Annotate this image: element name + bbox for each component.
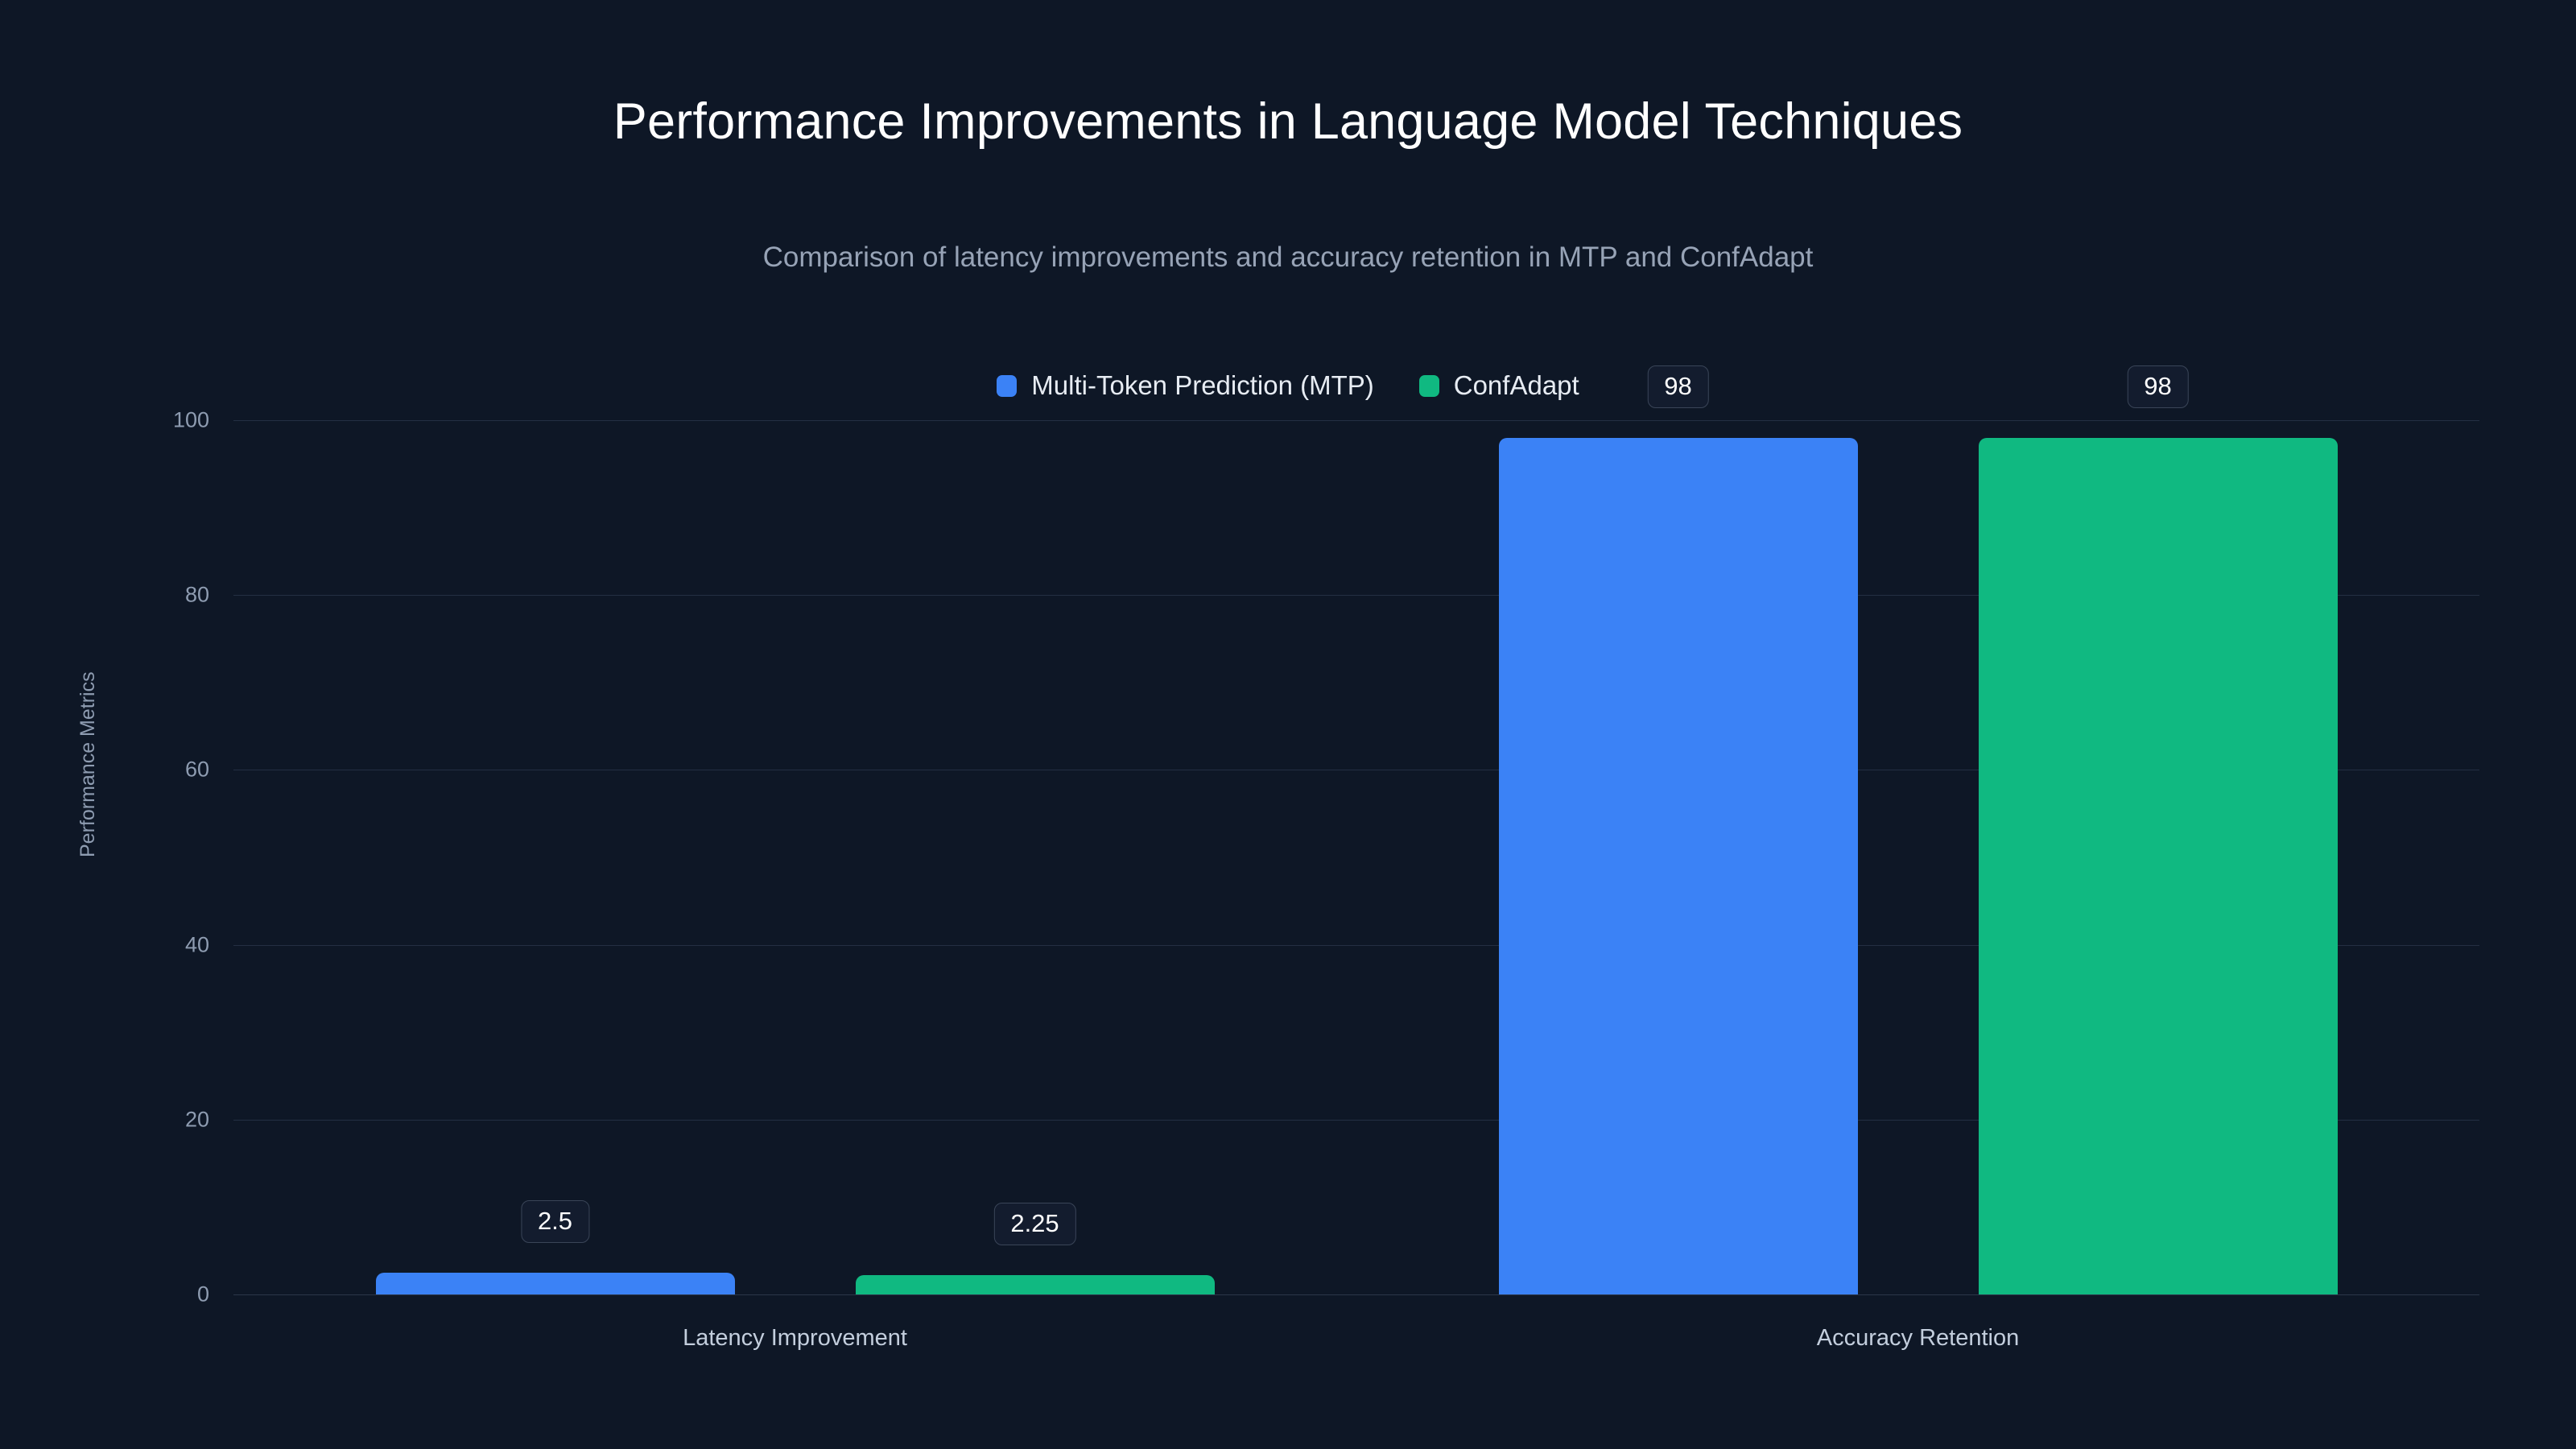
y-axis-tick-label: 40	[8, 932, 209, 957]
y-axis-tick-label: 60	[8, 758, 209, 782]
y-axis-tick-label: 100	[8, 408, 209, 433]
data-label-badge: 2.25	[993, 1203, 1075, 1245]
data-label-badge: 98	[1647, 365, 1708, 408]
bar[interactable]	[1979, 438, 2338, 1294]
gridline	[233, 420, 2479, 421]
legend-item-confadapt[interactable]: ConfAdapt	[1419, 370, 1579, 401]
y-axis-tick-label: 0	[8, 1282, 209, 1307]
gridline	[233, 1294, 2479, 1295]
legend-swatch-icon	[997, 375, 1017, 397]
y-axis-tick-label: 80	[8, 583, 209, 608]
legend-swatch-icon	[1419, 375, 1439, 397]
legend-item-mtp[interactable]: Multi-Token Prediction (MTP)	[997, 370, 1373, 401]
x-axis-category-label: Latency Improvement	[683, 1325, 907, 1352]
x-axis-category-label: Accuracy Retention	[1817, 1325, 2019, 1352]
data-label-badge: 2.5	[521, 1200, 589, 1243]
legend-label: ConfAdapt	[1454, 370, 1579, 401]
chart-subtitle: Comparison of latency improvements and a…	[0, 242, 2576, 274]
bar[interactable]	[856, 1275, 1215, 1294]
chart-title: Performance Improvements in Language Mod…	[0, 93, 2576, 151]
chart-container: Performance Improvements in Language Mod…	[0, 0, 2576, 1449]
bar[interactable]	[1499, 438, 1858, 1294]
plot-area: 0204060801002.52.25Latency Improvement98…	[233, 420, 2479, 1294]
y-axis-tick-label: 20	[8, 1107, 209, 1132]
bar[interactable]	[376, 1273, 735, 1294]
data-label-badge: 98	[2127, 365, 2188, 408]
chart-legend: Multi-Token Prediction (MTP) ConfAdapt	[0, 370, 2576, 401]
legend-label: Multi-Token Prediction (MTP)	[1031, 370, 1373, 401]
